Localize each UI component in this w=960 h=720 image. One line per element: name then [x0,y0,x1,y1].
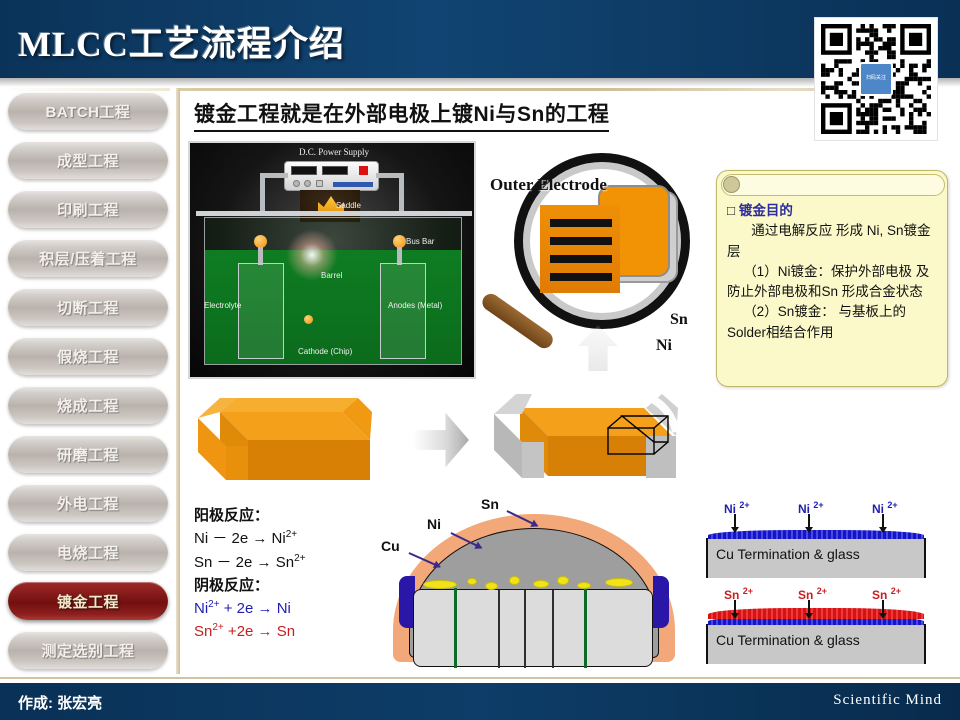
inner-electrode-line [454,588,457,668]
note-heading-row: □ 镀金目的 [727,201,941,221]
anode-equation-2: Sn － 2e → Sn2+ [194,551,404,574]
ion-charge: 2+ [891,586,901,596]
sidebar-item-label: 镀金工程 [57,591,119,612]
electroplating-photo: D.C. Power Supply Saddle [188,141,476,379]
chip-3d-before [192,394,372,484]
panel-substrate-label: Cu Termination & glass [716,546,860,562]
cathode-eq-2-sup: 2+ [212,622,223,633]
chip-electrode-body [540,205,620,293]
inner-electrode [550,273,612,281]
sidebar-item-label: 电烧工程 [57,542,119,563]
cathode-label: Cathode (Chip) [298,347,352,356]
reaction-equations: 阳极反应： Ni － 2e → Ni2+ Sn － 2e → Sn2+ 阴极反应… [194,504,404,644]
header-divider-left [0,88,170,91]
power-led-icon [359,166,368,175]
sidebar-item-7[interactable]: 研磨工程 [8,435,168,473]
sidebar-item-4[interactable]: 切断工程 [8,288,168,326]
ion-label: Sn 2+ [798,586,827,602]
anode-eq-2-sup: 2+ [294,553,305,564]
anode-equation-1: Ni － 2e → Ni2+ [194,527,404,550]
sidebar-item-1[interactable]: 成型工程 [8,141,168,179]
ion-arrow-icon [808,514,810,528]
chip-3d-after [486,392,682,488]
plating-cross-section: Cu Ni Sn [381,494,691,674]
ion-symbol: Sn [798,588,813,602]
cathode-equation-2: Sn2+ +2e → Sn [194,620,404,643]
sidebar-item-9[interactable]: 电烧工程 [8,533,168,571]
barrel-label: Barrel [321,271,342,280]
anodes-label: Anodes (Metal) [388,301,442,310]
ni-plating-panel: Cu Termination & glassNi 2+Ni 2+Ni 2+ [706,516,946,586]
note-scroll-top [721,174,945,196]
note-bullet-icon: □ [727,203,735,218]
sidebar-item-label: 印刷工程 [57,199,119,220]
chip-3d-before-svg [192,394,372,484]
ion-charge: 2+ [817,586,827,596]
ion-charge: 2+ [813,500,823,510]
sn-plating-panel: Cu Termination & glassSn 2+Sn 2+Sn 2+ [706,602,946,672]
note-line-2: （1）Ni镀金：保护外部电极 及 防止外部电极和Sn 形成合金状态 [727,262,941,303]
ion-label: Sn 2+ [724,586,753,602]
chip-3d-after-svg [486,392,682,488]
sidebar-item-label: 测定选别工程 [41,640,134,661]
ion-label: Ni 2+ [724,500,750,516]
cathode-heading: 阴极反应： [194,574,404,597]
glass-blob [423,580,457,589]
inner-electrode [550,255,612,263]
glass-blob [605,578,633,587]
ion-arrow-icon [882,600,884,614]
magnifier-sn-label: Sn [670,311,688,329]
glass-blob [577,582,591,589]
qr-logo: 扫码关注 [859,62,893,96]
sidebar-item-11[interactable]: 测定选别工程 [8,631,168,669]
ion-label: Sn 2+ [872,586,901,602]
section-title: 镀金工程就是在外部电极上镀Ni与Sn的工程 [194,98,609,132]
electrolyte-cage [238,263,284,359]
main-content: 镀金工程就是在外部电极上镀Ni与Sn的工程 D.C. Power Supply … [186,94,960,672]
ion-charge: 2+ [743,586,753,596]
cu-label: Cu [381,538,400,554]
glass-blob [485,582,498,590]
psu-title-label: D.C. Power Supply [274,147,394,157]
sidebar-item-label: 积层/压着工程 [39,248,137,269]
callout-note: □ 镀金目的 通过电解反应 形成 Ni, Sn镀金层 （1）Ni镀金：保护外部电… [716,170,948,387]
inner-electrode-line [524,590,526,668]
note-body: □ 镀金目的 通过电解反应 形成 Ni, Sn镀金层 （1）Ni镀金：保护外部电… [727,201,941,343]
note-curl-icon [723,176,740,193]
sidebar-item-label: 外电工程 [57,493,119,514]
sidebar-item-label: 烧成工程 [57,395,119,416]
bus-bar-label: Bus Bar [406,237,434,246]
sidebar-item-label: BATCH工程 [46,101,131,122]
inner-electrode [550,219,612,227]
note-line-3: （2）Sn镀金： 与基板上的Solder相结合作用 [727,302,941,343]
outer-electrode-label: Outer Electrode [490,175,607,195]
inner-electrode-line [552,590,554,668]
cathode-eq-1-sup: 2+ [208,599,219,610]
ion-charge: 2+ [887,500,897,510]
magnifier-ni-label: Ni [656,337,672,355]
sn-label: Sn [481,496,499,512]
sidebar-item-8[interactable]: 外电工程 [8,484,168,522]
wire-right [399,175,404,215]
note-line-1: 通过电解反应 形成 Ni, Sn镀金层 [727,221,941,262]
ion-charge: 2+ [739,500,749,510]
saddle-label: Saddle [336,201,361,210]
ion-symbol: Sn [872,588,887,602]
wire-left-top [260,173,288,178]
ion-arrow-icon [734,600,736,614]
anode-eq-1-sup: 2+ [286,529,297,540]
ni-layer [708,530,924,539]
panel-substrate-label: Cu Termination & glass [716,632,860,648]
cu-layer-right [653,576,669,628]
sidebar-item-2[interactable]: 印刷工程 [8,190,168,228]
inner-electrode [550,237,612,245]
sidebar-item-10[interactable]: 镀金工程 [8,582,168,620]
cathode-eq-2-post: +2e → Sn [224,623,295,640]
current-readout [291,166,317,175]
cathode-equation-1: Ni2+ + 2e → Ni [194,597,404,620]
anode-eq-1-text: Ni － 2e → Ni [194,530,286,547]
glass-blob [557,576,569,585]
glass-blob [509,576,520,585]
sidebar-item-label: 假烧工程 [57,346,119,367]
anode-heading: 阳极反应： [194,504,404,527]
cathode-eq-1-post: + 2e → Ni [220,600,291,617]
dc-power-supply [284,161,379,191]
footer-separator [0,677,960,679]
slide-root: MLCC工艺流程介绍 扫码关注 BATCH工程成型工程印刷工程积层/压着工程切断… [0,0,960,720]
cathode-eq-1-pre: Ni [194,600,208,617]
anode-eq-2-text: Sn － 2e → Sn [194,554,294,571]
cathode-eq-2-pre: Sn [194,623,212,640]
ion-arrow-icon [808,600,810,614]
sidebar-item-label: 研磨工程 [57,444,119,465]
page-title: MLCC工艺流程介绍 [18,16,345,67]
glass-blob [467,578,477,585]
ceramic-body [413,589,653,667]
magnifier-group: Outer Electrode Sn Ni [478,139,708,369]
slide-footer: 作成: 张宏亮 Scientific Mind [0,683,960,720]
note-heading: 镀金目的 [739,203,793,218]
sidebar-item-label: 切断工程 [57,297,119,318]
knob-icon [304,180,311,187]
sidebar-item-5[interactable]: 假烧工程 [8,337,168,375]
ion-label: Ni 2+ [798,500,824,516]
ion-arrow-icon [734,514,736,528]
footer-brand: Scientific Mind [833,692,942,709]
electrolyte-label: Electrolyte [204,301,241,310]
button-icon [316,180,323,187]
process-arrow-icon [413,409,469,471]
voltage-readout [322,166,348,175]
sidebar-item-0[interactable]: BATCH工程 [8,92,168,130]
ni-label: Ni [427,516,441,532]
ion-label: Ni 2+ [872,500,898,516]
sidebar-nav: BATCH工程成型工程印刷工程积层/压着工程切断工程假烧工程烧成工程研磨工程外电… [0,92,176,672]
wire-left [260,175,265,215]
sn-layer [708,608,924,619]
footer-author: 作成: 张宏亮 [18,692,102,713]
ion-arrow-icon [882,514,884,528]
sidebar-item-6[interactable]: 烧成工程 [8,386,168,424]
chip-highlight-dot [304,315,313,324]
glass-blob [533,580,549,588]
upward-arrow-icon [578,325,618,371]
knob-icon [293,180,300,187]
anode-cage [380,263,426,359]
slider-icon [333,182,373,187]
inner-electrode-line [584,588,587,668]
sidebar-divider [176,88,180,674]
sidebar-item-label: 成型工程 [57,150,119,171]
tank-top-bar [196,211,472,216]
sidebar-item-3[interactable]: 积层/压着工程 [8,239,168,277]
ion-symbol: Sn [724,588,739,602]
inner-electrode-line [498,590,500,668]
